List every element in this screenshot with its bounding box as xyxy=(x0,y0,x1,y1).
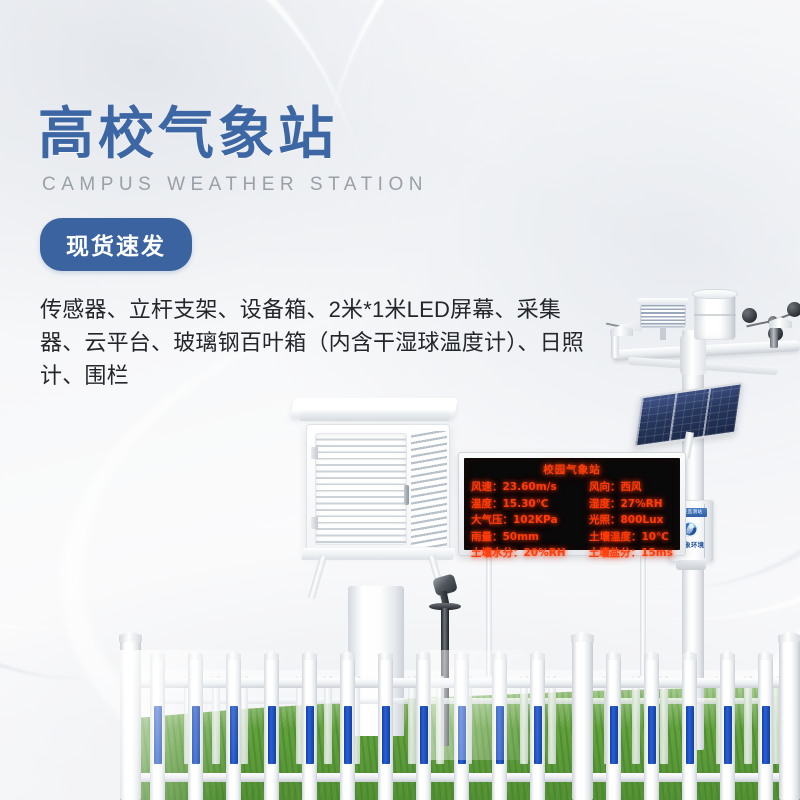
led-display-board: 校园气象站 风速：23.60m/s 风向：西风 温度：15.30℃ 湿度：27%… xyxy=(458,452,686,556)
led-row: 大气压：102KPa 光照：800Lux xyxy=(471,512,673,527)
stevenson-screen xyxy=(306,424,450,552)
led-value-wind-direction: 风向：西风 xyxy=(589,479,673,494)
led-row: 雨量：50mm 土壤温度：10℃ xyxy=(471,529,673,544)
led-value-humidity: 湿度：27%RH xyxy=(589,496,673,511)
led-row: 温度：15.30℃ 湿度：27%RH xyxy=(471,496,673,511)
led-row: 土壤水分：20%RH 土壤盐分：15ms xyxy=(471,545,673,560)
radiation-shield-sensor xyxy=(640,302,686,334)
stevenson-screen-handle xyxy=(404,485,409,505)
anemometer-sensor xyxy=(742,300,800,352)
page-subtitle: CAMPUS WEATHER STATION xyxy=(42,174,638,196)
led-value-soil-moisture: 土壤水分：20%RH xyxy=(471,545,589,560)
rain-gauge-sensor xyxy=(694,292,736,348)
led-title: 校园气象站 xyxy=(471,462,673,477)
fence-post xyxy=(779,640,800,800)
hero-copy-block: 高校气象站 CAMPUS WEATHER STATION 现货速发 传感器、立杆… xyxy=(38,104,638,392)
led-row: 风速：23.60m/s 风向：西风 xyxy=(471,479,673,494)
led-value-air-pressure: 大气压：102KPa xyxy=(471,512,589,527)
led-value-temperature: 温度：15.30℃ xyxy=(471,496,589,511)
led-value-soil-temperature: 土壤温度：10℃ xyxy=(589,529,673,544)
page-title: 高校气象站 xyxy=(38,104,638,164)
led-value-rainfall: 雨量：50mm xyxy=(471,529,589,544)
fence-post xyxy=(572,640,593,800)
fence-post xyxy=(120,640,141,800)
perimeter-fence xyxy=(120,650,800,800)
stock-badge: 现货速发 xyxy=(40,218,192,271)
cabinet-pole-collar xyxy=(676,560,706,570)
product-description: 传感器、立杆支架、设备箱、2米*1米LED屏幕、采集器、云平台、玻璃钢百叶箱（内… xyxy=(40,293,600,392)
led-value-illuminance: 光照：800Lux xyxy=(589,512,673,527)
product-banner: 环境监测站 万象环境 校园气象站 风速：23.60m/s 风向：西风 温度：15… xyxy=(0,0,800,800)
led-value-soil-salinity: 土壤盐分：15ms xyxy=(589,545,673,560)
led-value-wind-speed: 风速：23.60m/s xyxy=(471,479,589,494)
stevenson-screen-roof-under xyxy=(299,412,451,421)
led-screen: 校园气象站 风速：23.60m/s 风向：西风 温度：15.30℃ 湿度：27%… xyxy=(464,458,680,550)
led-readout-rows: 风速：23.60m/s 风向：西风 温度：15.30℃ 湿度：27%RH 大气压… xyxy=(471,479,673,560)
